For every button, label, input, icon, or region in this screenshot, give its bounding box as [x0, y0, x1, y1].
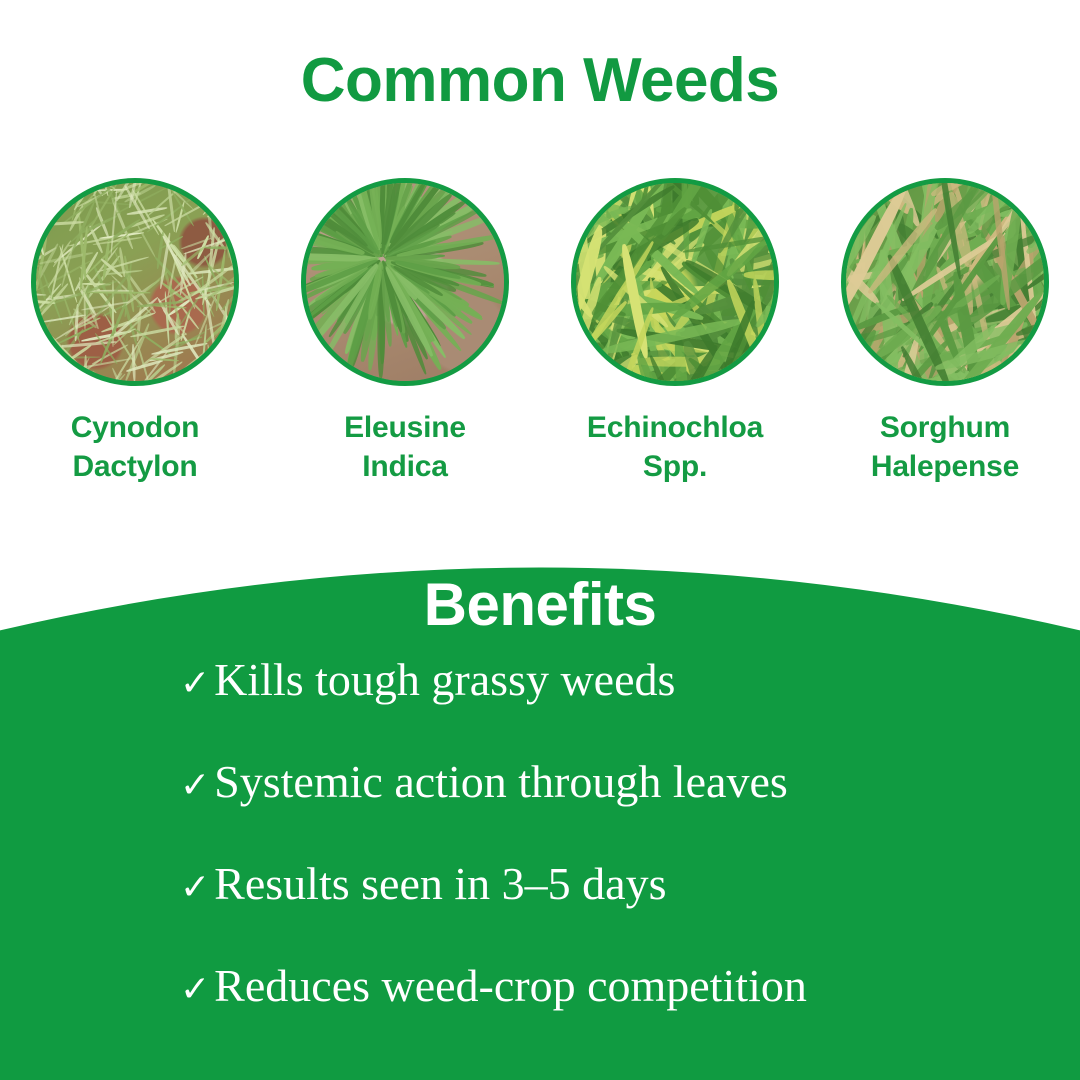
benefit-item: ✓ Reduces weed-crop competition [0, 963, 1080, 1065]
weed-label-line2: Indica [344, 447, 466, 486]
weed-label-line1: Eleusine [344, 408, 466, 447]
weed-card-eleusine-indica[interactable]: Eleusine Indica [280, 178, 530, 486]
benefit-item: ✓ Systemic action through leaves [0, 759, 1080, 861]
weed-label-sorghum-halepense: Sorghum Halepense [871, 408, 1019, 486]
benefit-item: ✓ Kills tough grassy weeds [0, 657, 1080, 759]
weed-gallery: Cynodon Dactylon Eleusine Indica Echinoc… [0, 178, 1080, 486]
echinochloa-spp-photo [571, 178, 779, 386]
weed-card-sorghum-halepense[interactable]: Sorghum Halepense [820, 178, 1070, 486]
check-icon: ✓ [180, 870, 210, 906]
check-icon: ✓ [180, 666, 210, 702]
cynodon-dactylon-photo [31, 178, 239, 386]
weed-label-line1: Sorghum [871, 408, 1019, 447]
weed-label-line1: Cynodon [71, 408, 200, 447]
benefits-heading: Benefits [0, 570, 1080, 639]
page-title: Common Weeds [0, 48, 1080, 113]
sorghum-halepense-photo [841, 178, 1049, 386]
weed-label-line2: Spp. [587, 447, 763, 486]
weed-card-cynodon-dactylon[interactable]: Cynodon Dactylon [10, 178, 260, 486]
weed-card-echinochloa-spp[interactable]: Echinochloa Spp. [550, 178, 800, 486]
weed-label-line2: Dactylon [71, 447, 200, 486]
benefit-text: Reduces weed-crop competition [214, 963, 807, 1009]
eleusine-indica-photo [301, 178, 509, 386]
weed-label-line1: Echinochloa [587, 408, 763, 447]
weed-label-eleusine-indica: Eleusine Indica [344, 408, 466, 486]
benefit-item: ✓ Results seen in 3–5 days [0, 861, 1080, 963]
weed-label-line2: Halepense [871, 447, 1019, 486]
check-icon: ✓ [180, 768, 210, 804]
benefits-list: ✓ Kills tough grassy weeds ✓ Systemic ac… [0, 657, 1080, 1065]
poster-root: Common Weeds Cynodon Dactylon Eleusine I… [0, 0, 1080, 1080]
benefit-text: Kills tough grassy weeds [214, 657, 675, 703]
weed-label-echinochloa-spp: Echinochloa Spp. [587, 408, 763, 486]
weed-label-cynodon-dactylon: Cynodon Dactylon [71, 408, 200, 486]
check-icon: ✓ [180, 972, 210, 1008]
benefit-text: Results seen in 3–5 days [214, 861, 666, 907]
benefit-text: Systemic action through leaves [214, 759, 788, 805]
